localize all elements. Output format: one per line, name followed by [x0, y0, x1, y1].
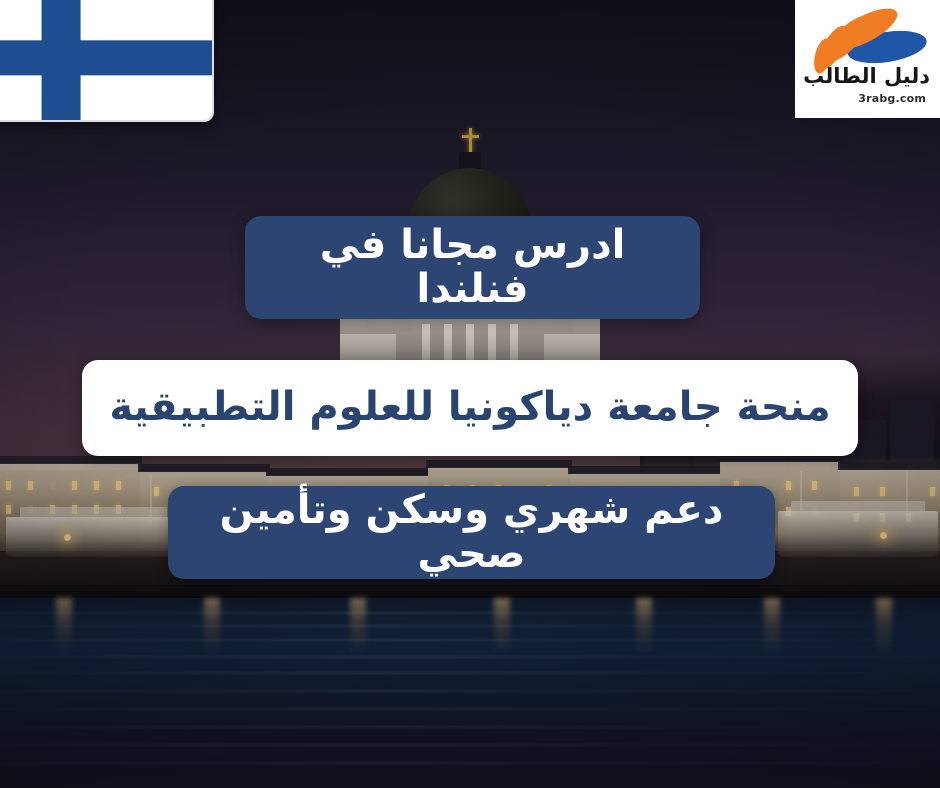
flag-vertical-bar: [41, 0, 80, 120]
flag-horizontal-bar: [0, 40, 212, 75]
brand-website: 3rabg.com: [858, 92, 926, 105]
brand-name: دليل الطالب: [803, 66, 930, 87]
headline-banner-scholarship-name: منحة جامعة دياكونيا للعلوم التطبيقية: [82, 360, 858, 456]
finland-flag-icon: [0, 0, 214, 122]
scholarship-poster: دليل الطالب 3rabg.com ادرس مجانا في فنلن…: [0, 0, 940, 788]
headline-banner-study-free: ادرس مجانا في فنلندا: [245, 216, 700, 319]
headline-banner-benefits: دعم شهري وسكن وتأمين صحي: [168, 486, 775, 579]
brand-logo[interactable]: دليل الطالب 3rabg.com: [795, 0, 940, 118]
